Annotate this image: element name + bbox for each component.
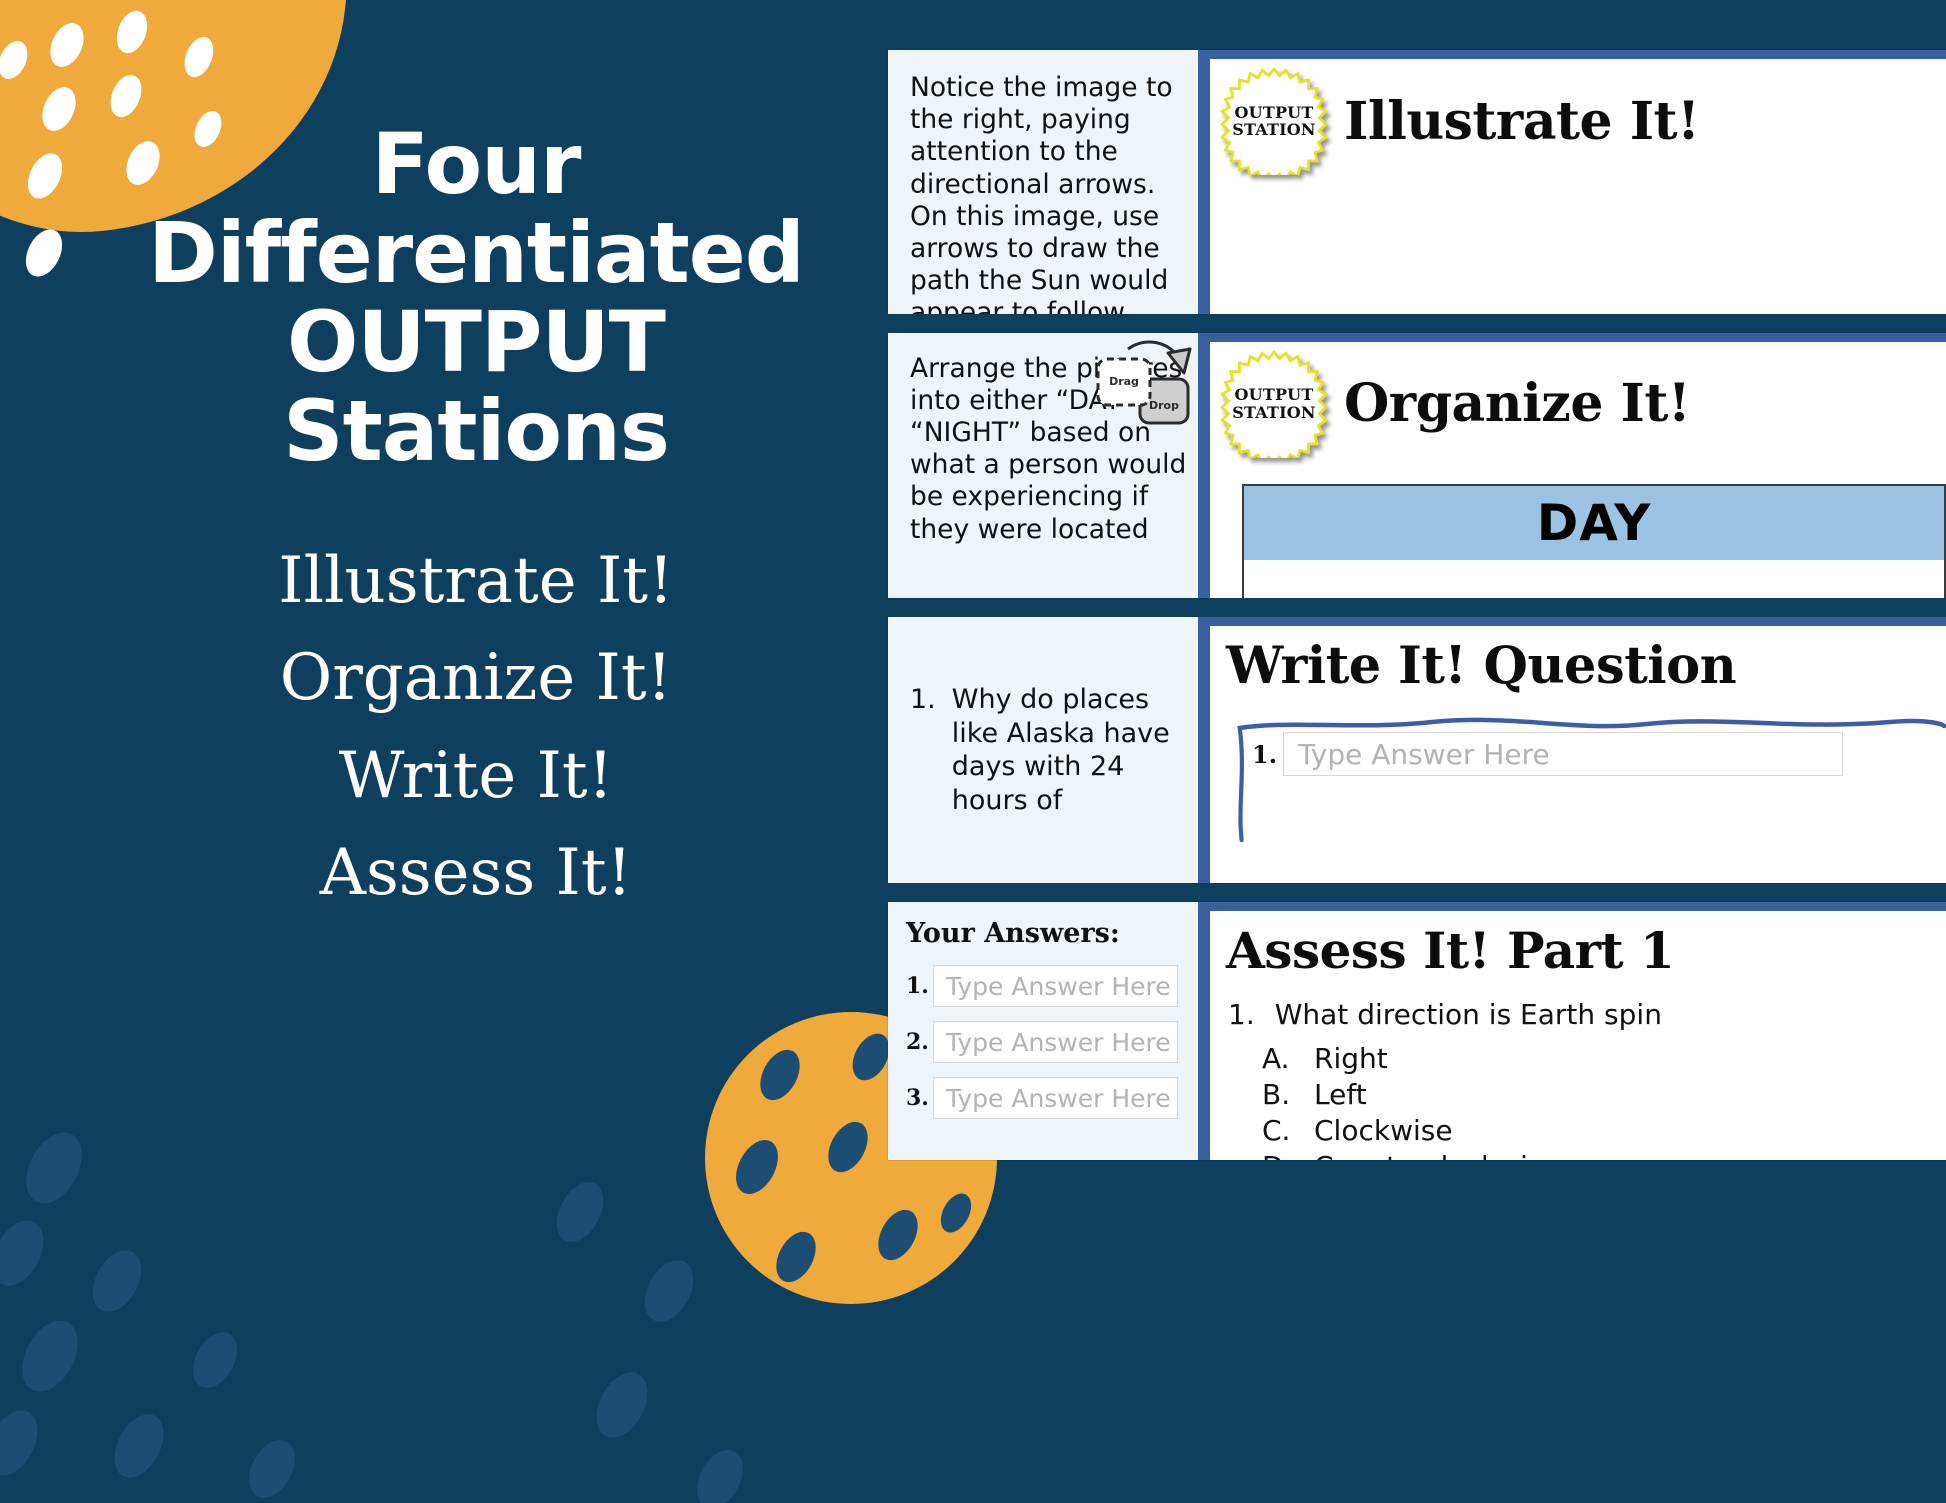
write-question-panel: 1. Why do places like Alaska have days w… [888,617,1198,883]
assess-answers-panel: Your Answers: 1. Type Answer Here 2. Typ… [888,902,1198,1160]
write-question-row: 1. Why do places like Alaska have days w… [910,683,1188,817]
navy-speck [727,1133,786,1201]
day-column-dropzone[interactable] [1242,560,1946,599]
illustrate-instruction-panel: Notice the image to the right, paying at… [888,50,1198,314]
navy-speck [104,1406,173,1486]
white-speck [105,70,147,121]
choice-text: Right [1314,1041,1388,1077]
assess-choice-b[interactable]: B. Left [1262,1077,1946,1113]
badge-label: OUTPUT STATION [1232,386,1315,421]
drop-label-text: Drop [1149,399,1179,412]
output-station-badge-icon: OUTPUT STATION [1220,350,1328,458]
navy-speck [820,1115,875,1179]
choice-letter: C. [1262,1113,1292,1149]
write-answer-input[interactable]: Type Answer Here [1283,732,1843,776]
navy-speck [0,1212,54,1294]
assess-answer-input-1[interactable]: Type Answer Here [933,965,1178,1007]
assess-answer-number: 2. [906,1029,929,1055]
drag-label-text: Drag [1109,375,1139,388]
left-title-panel: Four Differentiated OUTPUT Stations Illu… [118,120,834,1000]
white-speck [0,36,33,83]
white-speck [111,7,152,58]
illustrate-instruction-text: Notice the image to the right, paying at… [910,72,1184,314]
white-speck [36,82,82,136]
assess-answer-row: 1. Type Answer Here [906,965,1184,1007]
assess-answer-input-2[interactable]: Type Answer Here [933,1021,1178,1063]
assess-choice-a[interactable]: A. Right [1262,1041,1946,1077]
white-speck [21,148,69,204]
drag-and-drop-icon: Drag Drop [1092,339,1196,431]
navy-speck [768,1225,823,1289]
illustrate-title-row: OUTPUT STATION Illustrate It! [1210,59,1946,175]
navy-speck [240,1432,304,1503]
station-list-item-illustrate: Illustrate It! [278,542,673,621]
badge-line-2: STATION [1232,404,1315,421]
navy-speck [547,1174,612,1249]
assess-choice-list: A. Right B. Left C. Clockwise D. [1210,1031,1946,1160]
output-station-badge-icon: OUTPUT STATION [1220,67,1328,175]
page-title: Four Differentiated OUTPUT Stations [148,120,804,476]
navy-speck [0,1402,48,1484]
choice-letter: A. [1262,1041,1292,1077]
write-slide-body: Write It! Question 1. Type Answer Here [1198,617,1946,883]
navy-speck [635,1252,703,1330]
choice-text: Clockwise [1314,1113,1453,1149]
hand-drawn-border-decoration [1236,710,1946,850]
illustrate-sheet: OUTPUT STATION Illustrate It! [1210,59,1946,314]
write-answer-number: 1. [1252,740,1277,769]
badge-label: OUTPUT STATION [1232,104,1315,139]
navy-speck [15,1123,93,1213]
assess-question-text: What direction is Earth spin [1275,998,1662,1031]
headline-line-1: Four [372,115,581,213]
slide-card-organize[interactable]: Arrange the pictures into either “DAY” o… [888,333,1946,599]
headline-line-3: OUTPUT [287,293,665,391]
poster-canvas: Four Differentiated OUTPUT Stations Illu… [0,0,1946,1503]
assess-question-row: 1. What direction is Earth spin [1210,980,1946,1031]
assess-slide-body: Assess It! Part 1 1. What direction is E… [1198,902,1946,1160]
station-list-item-organize: Organize It! [280,639,673,718]
slide-card-illustrate[interactable]: Notice the image to the right, paying at… [888,50,1946,314]
organize-instruction-panel: Arrange the pictures into either “DAY” o… [888,333,1198,599]
write-question-number: 1. [910,683,936,817]
badge-line-1: OUTPUT [1232,386,1315,403]
assess-title: Assess It! Part 1 [1210,911,1946,980]
write-question-text: Why do places like Alaska have days with… [952,683,1188,817]
navy-speck [184,1325,246,1396]
assess-answer-input-3[interactable]: Type Answer Here [933,1077,1178,1119]
choice-text: Left [1314,1077,1367,1113]
assess-sheet: Assess It! Part 1 1. What direction is E… [1210,911,1946,1160]
organize-title-row: OUTPUT STATION Organize It! [1210,342,1946,458]
assess-answer-number: 1. [906,973,929,999]
write-answer-area: 1. Type Answer Here [1236,710,1946,850]
your-answers-label: Your Answers: [906,918,1184,949]
badge-line-1: OUTPUT [1232,104,1315,121]
illustrate-slide-body: OUTPUT STATION Illustrate It! [1198,50,1946,314]
navy-speck [688,1442,752,1503]
slide-card-assess[interactable]: Your Answers: 1. Type Answer Here 2. Typ… [888,902,1946,1160]
navy-speck [586,1364,658,1446]
navy-speck [935,1188,978,1237]
slide-preview-stack: Notice the image to the right, paying at… [888,50,1946,1160]
organize-title: Organize It! [1344,373,1690,434]
station-list: Illustrate It! Organize It! Write It! As… [278,542,673,913]
illustrate-title: Illustrate It! [1344,91,1699,152]
navy-speck [870,1203,925,1267]
assess-choice-c[interactable]: C. Clockwise [1262,1113,1946,1149]
white-speck [44,18,90,72]
assess-answer-row: 2. Type Answer Here [906,1021,1184,1063]
write-title: Write It! Question [1210,626,1946,696]
navy-speck [11,1311,89,1401]
choice-letter: D. [1262,1149,1292,1160]
white-speck [19,224,70,283]
day-column-header[interactable]: DAY [1242,484,1946,560]
write-sheet: Write It! Question 1. Type Answer Here [1210,626,1946,883]
slide-card-write[interactable]: 1. Why do places like Alaska have days w… [888,617,1946,883]
choice-letter: B. [1262,1077,1292,1113]
white-speck [179,33,219,82]
navy-speck [83,1242,151,1320]
assess-choice-d[interactable]: D. Counterclockwise [1262,1149,1946,1160]
write-answer-row: 1. Type Answer Here [1252,732,1843,776]
station-list-item-write: Write It! [339,737,614,816]
assess-answer-row: 3. Type Answer Here [906,1077,1184,1119]
station-list-item-assess: Assess It! [320,834,633,913]
headline-line-2: Differentiated [148,204,804,302]
badge-line-2: STATION [1232,121,1315,138]
navy-speck [752,1043,807,1107]
assess-answer-number: 3. [906,1085,929,1111]
headline-line-4: Stations [283,382,669,480]
choice-text: Counterclockwise [1314,1149,1560,1160]
organize-sheet: OUTPUT STATION Organize It! DAY [1210,342,1946,599]
day-column-label: DAY [1537,494,1652,552]
organize-slide-body: OUTPUT STATION Organize It! DAY [1198,333,1946,599]
assess-question-number: 1. [1228,998,1255,1031]
